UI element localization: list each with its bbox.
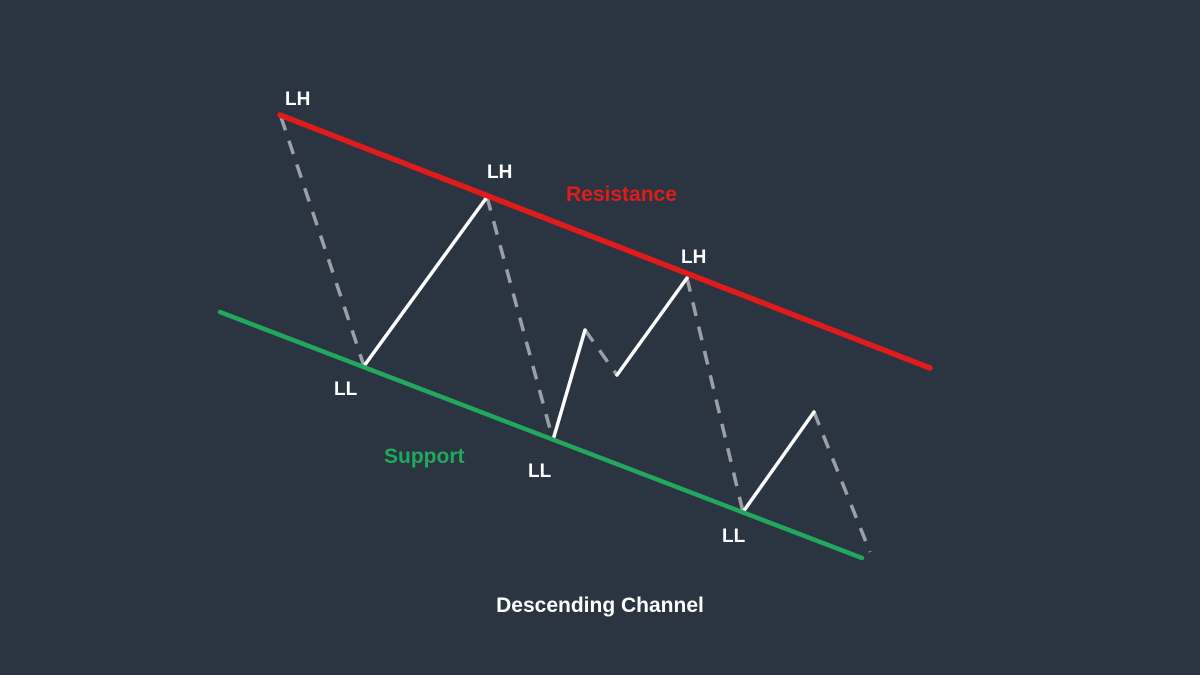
descending-channel-diagram: LH LH LH LL LL LL Resistance Support Des… xyxy=(0,0,1200,675)
support-trendline xyxy=(220,312,862,558)
chart-canvas: LH LH LH LL LL LL Resistance Support Des… xyxy=(0,0,1200,675)
swing-label-lh-1: LH xyxy=(285,89,310,110)
price-segment-down-5 xyxy=(814,412,870,552)
price-segment-down-1 xyxy=(281,117,364,366)
chart-title: Descending Channel xyxy=(496,594,704,617)
resistance-trendline xyxy=(280,115,930,368)
swing-label-lh-3: LH xyxy=(681,247,706,268)
swing-label-ll-3: LL xyxy=(722,526,746,547)
support-label: Support xyxy=(384,445,464,468)
swing-label-lh-2: LH xyxy=(487,162,512,183)
resistance-label: Resistance xyxy=(566,183,677,206)
price-segment-down-3 xyxy=(585,330,617,375)
price-segment-up-3 xyxy=(617,278,687,375)
price-segment-down-4 xyxy=(687,278,743,512)
swing-label-ll-1: LL xyxy=(334,379,358,400)
swing-point-labels: LH LH LH LL LL LL xyxy=(285,89,746,547)
price-segment-down-2 xyxy=(487,197,553,440)
price-segment-up-2 xyxy=(553,330,585,440)
price-segment-up-4 xyxy=(743,412,814,512)
price-segment-up-1 xyxy=(364,197,487,366)
swing-label-ll-2: LL xyxy=(528,461,552,482)
